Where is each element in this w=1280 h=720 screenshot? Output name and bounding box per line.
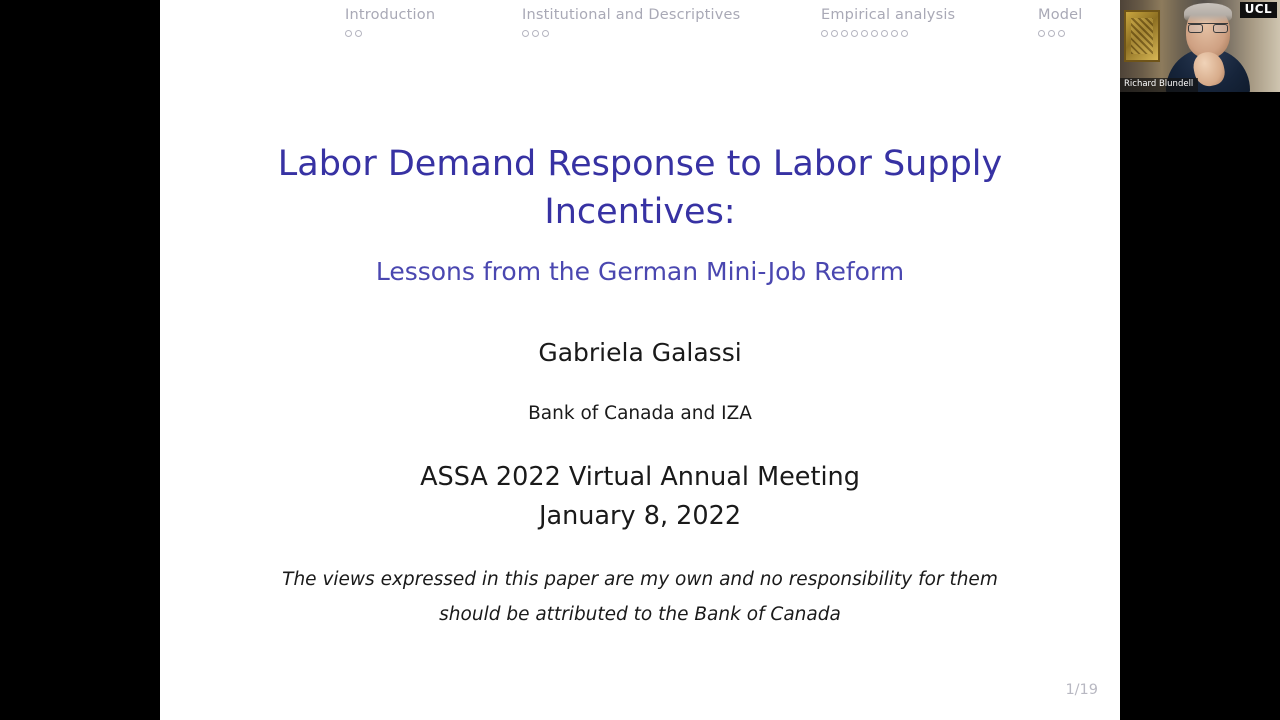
video-background-artwork [1124, 10, 1160, 62]
participant-name-plate: Richard Blundell [1120, 78, 1198, 92]
nav-dot[interactable] [891, 30, 898, 37]
slide-title-line-2: Incentives: [160, 188, 1120, 236]
nav-section-label: Introduction [345, 8, 435, 23]
nav-section-institutional-and-descriptives[interactable]: Institutional and Descriptives [522, 8, 740, 37]
nav-dot[interactable] [831, 30, 838, 37]
event-date: January 8, 2022 [160, 501, 1120, 531]
slide-navigation-bar: Introduction Institutional and Descripti… [160, 0, 1120, 46]
nav-dot[interactable] [1048, 30, 1055, 37]
nav-section-dots[interactable] [522, 30, 740, 37]
presentation-slide: Introduction Institutional and Descripti… [160, 0, 1120, 720]
slide-title-block: Labor Demand Response to Labor Supply In… [160, 140, 1120, 286]
nav-section-introduction[interactable]: Introduction [345, 8, 435, 37]
nav-dot[interactable] [1038, 30, 1045, 37]
speaker-hair [1184, 3, 1232, 23]
nav-section-dots[interactable] [345, 30, 435, 37]
nav-section-dots[interactable] [821, 30, 955, 37]
disclaimer-line-2: should be attributed to the Bank of Cana… [265, 597, 1015, 632]
event-block: ASSA 2022 Virtual Annual Meeting January… [160, 462, 1120, 531]
nav-section-model[interactable]: Model [1038, 8, 1083, 37]
nav-dot[interactable] [1058, 30, 1065, 37]
disclaimer-line-1: The views expressed in this paper are my… [265, 562, 1015, 597]
letterbox-left [0, 0, 160, 720]
nav-dot[interactable] [542, 30, 549, 37]
nav-dot[interactable] [881, 30, 888, 37]
letterbox-right [1120, 0, 1280, 720]
author-block: Gabriela Galassi Bank of Canada and IZA [160, 338, 1120, 424]
speaker-video-tile[interactable]: UCL Richard Blundell [1120, 0, 1280, 92]
nav-section-label: Institutional and Descriptives [522, 8, 740, 23]
nav-dot[interactable] [355, 30, 362, 37]
slide-title-line-1: Labor Demand Response to Labor Supply [160, 140, 1120, 188]
author-affiliation: Bank of Canada and IZA [160, 403, 1120, 424]
nav-dot[interactable] [532, 30, 539, 37]
nav-section-label: Model [1038, 8, 1083, 23]
nav-dot[interactable] [522, 30, 529, 37]
screen-capture: Introduction Institutional and Descripti… [0, 0, 1280, 720]
nav-dot[interactable] [841, 30, 848, 37]
nav-section-dots[interactable] [1038, 30, 1083, 37]
nav-dot[interactable] [821, 30, 828, 37]
nav-dot[interactable] [345, 30, 352, 37]
nav-dot[interactable] [901, 30, 908, 37]
slide-subtitle: Lessons from the German Mini-Job Reform [160, 257, 1120, 286]
ucl-logo: UCL [1240, 2, 1277, 18]
event-name: ASSA 2022 Virtual Annual Meeting [160, 462, 1120, 492]
nav-section-empirical-analysis[interactable]: Empirical analysis [821, 8, 955, 37]
author-name: Gabriela Galassi [160, 338, 1120, 367]
glasses-icon [1188, 23, 1228, 32]
nav-dot[interactable] [851, 30, 858, 37]
disclaimer-block: The views expressed in this paper are my… [160, 562, 1120, 632]
nav-dot[interactable] [871, 30, 878, 37]
page-number: 1/19 [1065, 682, 1098, 698]
nav-dot[interactable] [861, 30, 868, 37]
nav-section-label: Empirical analysis [821, 8, 955, 23]
